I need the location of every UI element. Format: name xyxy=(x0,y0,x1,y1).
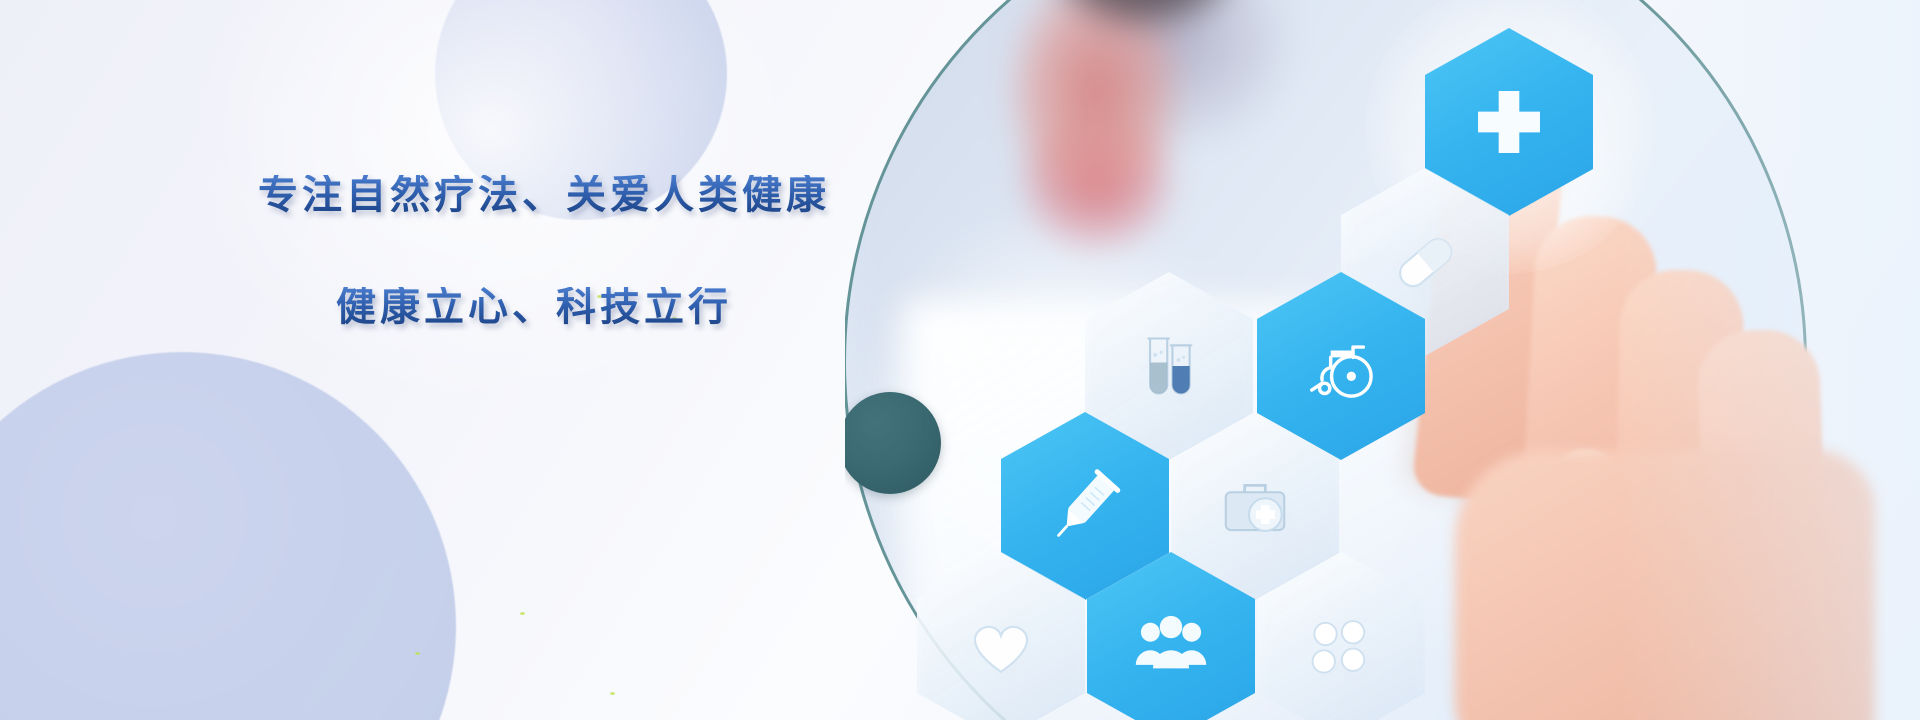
medical-cross-icon xyxy=(1466,79,1552,165)
photo-composition xyxy=(845,0,1920,720)
test-tubes-icon xyxy=(1126,323,1212,409)
headline-line-2: 健康立心、科技立行 xyxy=(336,287,878,327)
speck-dot xyxy=(610,692,615,695)
syringe-icon xyxy=(1042,463,1128,549)
headline-block: 专注自然疗法、关爱人类健康 健康立心、科技立行 xyxy=(258,175,878,327)
people-group-icon xyxy=(1128,603,1214,689)
speck-dot xyxy=(415,652,420,655)
wheelchair-icon xyxy=(1298,323,1384,409)
speck-dot xyxy=(520,612,525,615)
hexagon-icon-cluster xyxy=(845,0,1920,720)
decorative-circle-bottom xyxy=(0,352,456,720)
headline-line-1: 专注自然疗法、关爱人类健康 xyxy=(258,175,878,215)
heart-icon xyxy=(958,603,1044,689)
first-aid-kit-icon xyxy=(1212,463,1298,549)
health-banner: 专注自然疗法、关爱人类健康 健康立心、科技立行 xyxy=(0,0,1920,720)
pills-icon xyxy=(1298,603,1384,689)
capsule-pill-icon xyxy=(1382,219,1468,305)
